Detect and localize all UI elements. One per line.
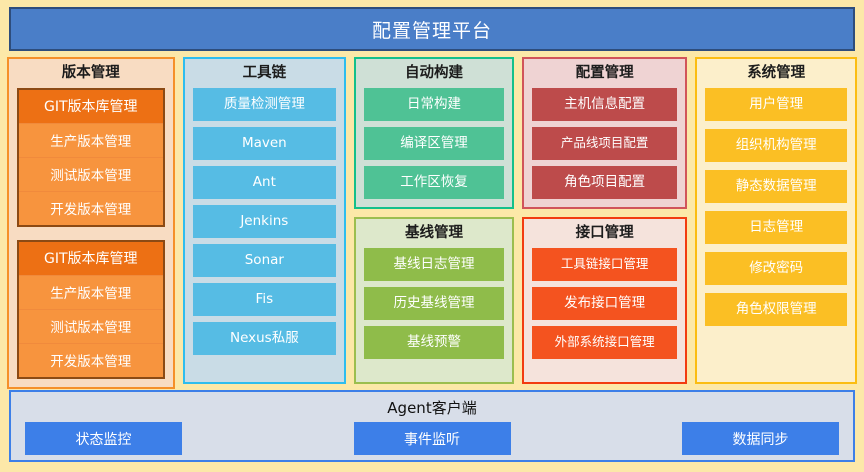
- panel-body-version-management: GIT版本库管理 生产版本管理 测试版本管理 开发版本管理 GIT版本库管理 生…: [17, 88, 165, 379]
- panel-title-auto-build: 自动构建: [364, 63, 504, 88]
- panel-title-interface-management: 接口管理: [532, 223, 678, 248]
- item-dev-version-management-1[interactable]: 开发版本管理: [19, 192, 163, 225]
- item-baseline-alert[interactable]: 基线预警: [364, 326, 504, 359]
- diagram-canvas: 配置管理平台 版本管理 GIT版本库管理 生产版本管理 测试版本管理 开发版本管…: [0, 0, 864, 472]
- item-workspace-recovery[interactable]: 工作区恢复: [364, 166, 504, 199]
- item-sonar[interactable]: Sonar: [193, 244, 337, 277]
- item-git-repo-management-1[interactable]: GIT版本库管理: [19, 90, 163, 123]
- agent-client-title: Agent客户端: [11, 392, 853, 422]
- column-system-management: 系统管理 用户管理 组织机构管理 静态数据管理 日志管理 修改密码 角色权限管理: [695, 57, 857, 384]
- item-release-interface-management[interactable]: 发布接口管理: [532, 287, 678, 320]
- item-baseline-log-management[interactable]: 基线日志管理: [364, 248, 504, 281]
- version-group-2: GIT版本库管理 生产版本管理 测试版本管理 开发版本管理: [17, 240, 165, 379]
- panel-system-management: 系统管理 用户管理 组织机构管理 静态数据管理 日志管理 修改密码 角色权限管理: [695, 57, 857, 384]
- item-nexus-private-server[interactable]: Nexus私服: [193, 322, 337, 355]
- column-config-interface: 配置管理 主机信息配置 产品线项目配置 角色项目配置 接口管理 工具链接口管理 …: [522, 57, 688, 384]
- panel-version-management: 版本管理 GIT版本库管理 生产版本管理 测试版本管理 开发版本管理 GIT版本…: [7, 57, 175, 389]
- panel-auto-build: 自动构建 日常构建 编译区管理 工作区恢复: [354, 57, 514, 209]
- panel-title-toolchain: 工具链: [193, 63, 337, 88]
- item-fis[interactable]: Fis: [193, 283, 337, 316]
- item-toolchain-interface-management[interactable]: 工具链接口管理: [532, 248, 678, 281]
- panel-body-system-management: 用户管理 组织机构管理 静态数据管理 日志管理 修改密码 角色权限管理: [705, 88, 847, 374]
- panel-configuration-management: 配置管理 主机信息配置 产品线项目配置 角色项目配置: [522, 57, 688, 209]
- item-production-version-management-1[interactable]: 生产版本管理: [19, 124, 163, 157]
- item-compile-area-management[interactable]: 编译区管理: [364, 127, 504, 160]
- panel-toolchain: 工具链 质量检测管理 Maven Ant Jenkins Sonar Fis N…: [183, 57, 347, 384]
- item-jenkins[interactable]: Jenkins: [193, 205, 337, 238]
- item-test-version-management-1[interactable]: 测试版本管理: [19, 158, 163, 191]
- agent-client-bar: Agent客户端 状态监控 事件监听 数据同步: [9, 390, 855, 462]
- button-event-listener[interactable]: 事件监听: [354, 422, 511, 455]
- panel-title-version-management: 版本管理: [17, 63, 165, 88]
- panel-title-system-management: 系统管理: [705, 63, 847, 88]
- column-toolchain: 工具链 质量检测管理 Maven Ant Jenkins Sonar Fis N…: [183, 57, 347, 384]
- panel-title-baseline-management: 基线管理: [364, 223, 504, 248]
- panel-body-interface-management: 工具链接口管理 发布接口管理 外部系统接口管理: [532, 248, 678, 374]
- column-version-management: 版本管理 GIT版本库管理 生产版本管理 测试版本管理 开发版本管理 GIT版本…: [7, 57, 175, 384]
- item-static-data-management[interactable]: 静态数据管理: [705, 170, 847, 203]
- item-organization-management[interactable]: 组织机构管理: [705, 129, 847, 162]
- item-user-management[interactable]: 用户管理: [705, 88, 847, 121]
- item-change-password[interactable]: 修改密码: [705, 252, 847, 285]
- platform-title-bar: 配置管理平台: [9, 7, 855, 51]
- item-product-line-project-config[interactable]: 产品线项目配置: [532, 127, 678, 160]
- version-group-1: GIT版本库管理 生产版本管理 测试版本管理 开发版本管理: [17, 88, 165, 227]
- item-production-version-management-2[interactable]: 生产版本管理: [19, 276, 163, 309]
- panel-baseline-management: 基线管理 基线日志管理 历史基线管理 基线预警: [354, 217, 514, 384]
- button-data-sync[interactable]: 数据同步: [682, 422, 839, 455]
- item-external-system-interface-management[interactable]: 外部系统接口管理: [532, 326, 678, 359]
- item-git-repo-management-2[interactable]: GIT版本库管理: [19, 242, 163, 275]
- panel-body-toolchain: 质量检测管理 Maven Ant Jenkins Sonar Fis Nexus…: [193, 88, 337, 374]
- panel-title-configuration-management: 配置管理: [532, 63, 678, 88]
- button-status-monitor[interactable]: 状态监控: [25, 422, 182, 455]
- panel-body-configuration-management: 主机信息配置 产品线项目配置 角色项目配置: [532, 88, 678, 199]
- item-role-project-config[interactable]: 角色项目配置: [532, 166, 678, 199]
- item-history-baseline-management[interactable]: 历史基线管理: [364, 287, 504, 320]
- column-build-baseline: 自动构建 日常构建 编译区管理 工作区恢复 基线管理 基线日志管理 历史基线管理…: [354, 57, 514, 384]
- panel-body-auto-build: 日常构建 编译区管理 工作区恢复: [364, 88, 504, 199]
- item-host-info-config[interactable]: 主机信息配置: [532, 88, 678, 121]
- page-title: 配置管理平台: [372, 16, 492, 43]
- item-log-management[interactable]: 日志管理: [705, 211, 847, 244]
- columns-container: 版本管理 GIT版本库管理 生产版本管理 测试版本管理 开发版本管理 GIT版本…: [7, 57, 857, 384]
- item-role-permission-management[interactable]: 角色权限管理: [705, 293, 847, 326]
- item-dev-version-management-2[interactable]: 开发版本管理: [19, 344, 163, 377]
- item-test-version-management-2[interactable]: 测试版本管理: [19, 310, 163, 343]
- item-daily-build[interactable]: 日常构建: [364, 88, 504, 121]
- item-ant[interactable]: Ant: [193, 166, 337, 199]
- panel-interface-management: 接口管理 工具链接口管理 发布接口管理 外部系统接口管理: [522, 217, 688, 384]
- panel-body-baseline-management: 基线日志管理 历史基线管理 基线预警: [364, 248, 504, 374]
- item-maven[interactable]: Maven: [193, 127, 337, 160]
- item-quality-detection-management[interactable]: 质量检测管理: [193, 88, 337, 121]
- agent-client-buttons: 状态监控 事件监听 数据同步: [11, 422, 853, 463]
